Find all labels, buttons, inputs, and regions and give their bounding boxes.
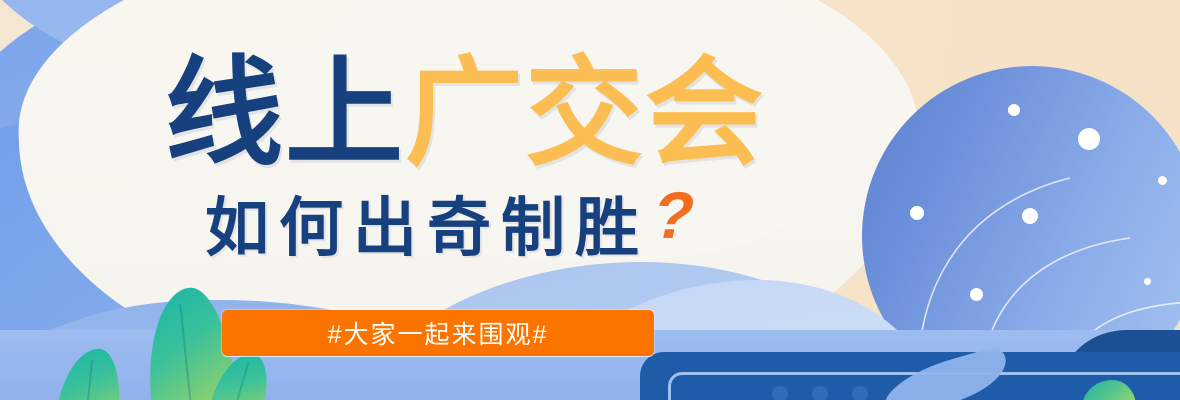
subline: 如何出奇制胜 ? — [205, 196, 691, 262]
star-dot — [1148, 348, 1156, 356]
ship-dark-shape — [1062, 330, 1180, 400]
star-dot — [1062, 332, 1067, 337]
star-dot — [970, 288, 983, 301]
star-dot — [1144, 278, 1151, 285]
leaf-icon — [1082, 380, 1136, 400]
question-mark-icon: ? — [647, 182, 701, 248]
text-block: 线上广交会 如何出奇制胜 ? #大家一起来围观# — [0, 0, 880, 400]
hashtag-badge[interactable]: #大家一起来围观# — [222, 310, 654, 356]
star-dot — [910, 206, 924, 220]
promo-banner: 线上广交会 如何出奇制胜 ? #大家一起来围观# — [0, 0, 1180, 400]
ship-swoosh — [877, 345, 1014, 400]
globe-icon — [862, 66, 1180, 400]
headline-part-online: 线上 — [165, 48, 405, 180]
star-dot — [1078, 128, 1100, 150]
star-dot — [906, 366, 912, 372]
star-dot — [1008, 104, 1020, 116]
headline: 线上广交会 — [165, 52, 765, 177]
hashtag-badge-label: #大家一起来围观# — [328, 315, 549, 351]
headline-part-cantonfair: 广交会 — [405, 48, 765, 180]
star-dot — [1158, 176, 1167, 185]
star-dot — [1022, 208, 1038, 224]
subtitle: 如何出奇制胜 — [205, 196, 649, 260]
